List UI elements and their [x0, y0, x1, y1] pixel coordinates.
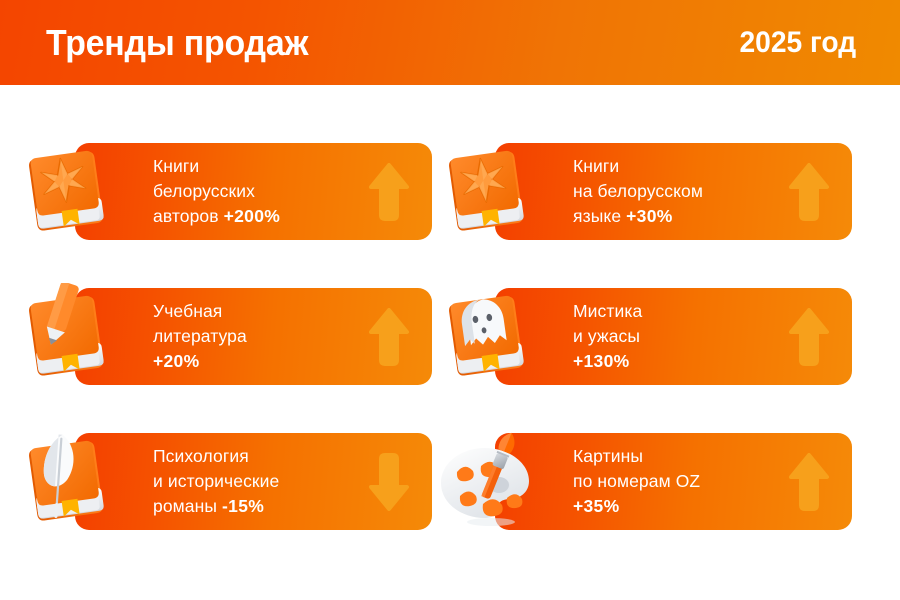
arrow-up-icon: [368, 308, 410, 366]
book-star-icon: [13, 138, 121, 246]
trend-card-line2: белорусских: [153, 181, 255, 201]
trend-card-line2: на белорусском: [573, 181, 703, 201]
book-ghost-icon: [433, 283, 541, 391]
arrow-up-icon: [788, 163, 830, 221]
trend-card-value: +130%: [573, 351, 629, 371]
infographic-page: Тренды продаж 2025 год Книгиб: [0, 0, 900, 600]
trend-card-line2: литература: [153, 326, 247, 346]
trend-card-line1: Картины: [573, 446, 643, 466]
trend-card-psychology-historical-novels[interactable]: Психологияи историческиероманы -15%: [75, 433, 432, 530]
trend-card-text: Книгина белорусскомязыке +30%: [573, 154, 703, 229]
trend-card-text: Психологияи историческиероманы -15%: [153, 444, 279, 519]
trend-card-line1: Книги: [153, 156, 199, 176]
arrow-up-icon: [788, 308, 830, 366]
trend-card-line1: Книги: [573, 156, 619, 176]
arrow-up-icon: [788, 453, 830, 511]
book-star-icon: [433, 138, 541, 246]
trend-card-value: +200%: [224, 206, 280, 226]
trend-card-text: Учебнаялитература+20%: [153, 299, 247, 374]
trend-card-mystery-and-horror[interactable]: Мистикаи ужасы+130%: [495, 288, 852, 385]
trend-card-value: -15%: [222, 496, 264, 516]
trend-card-line1: Психология: [153, 446, 249, 466]
header-banner: Тренды продаж 2025 год: [0, 0, 900, 85]
trend-card-value: +35%: [573, 496, 619, 516]
trend-card-educational-literature[interactable]: Учебнаялитература+20%: [75, 288, 432, 385]
header-year: 2025 год: [739, 26, 856, 60]
trend-card-books-in-belarusian[interactable]: Книгина белорусскомязыке +30%: [495, 143, 852, 240]
trend-card-text: Книгибелорусскихавторов +200%: [153, 154, 280, 229]
palette-brush-icon: [433, 428, 541, 536]
trend-card-line1: Мистика: [573, 301, 642, 321]
trend-card-books-belarusian-authors[interactable]: Книгибелорусскихавторов +200%: [75, 143, 432, 240]
trend-card-line2: по номерам OZ: [573, 471, 700, 491]
trend-card-value: +20%: [153, 351, 199, 371]
cards-grid: Книгибелорусскихавторов +200% Книгина бе: [0, 85, 900, 600]
trend-card-line1: Учебная: [153, 301, 222, 321]
book-pencil-icon: [13, 283, 121, 391]
book-feather-icon: [13, 428, 121, 536]
trend-card-line3: языке: [573, 206, 626, 226]
trend-card-text: Картиныпо номерам OZ+35%: [573, 444, 700, 519]
trend-card-line2: и ужасы: [573, 326, 640, 346]
arrow-down-icon: [368, 453, 410, 511]
arrow-up-icon: [368, 163, 410, 221]
trend-card-text: Мистикаи ужасы+130%: [573, 299, 642, 374]
trend-card-value: +30%: [626, 206, 672, 226]
trend-card-line3: романы: [153, 496, 222, 516]
trend-card-line2: и исторические: [153, 471, 279, 491]
page-title: Тренды продаж: [46, 22, 308, 64]
trend-card-paint-by-numbers-oz[interactable]: Картиныпо номерам OZ+35%: [495, 433, 852, 530]
trend-card-line3: авторов: [153, 206, 224, 226]
